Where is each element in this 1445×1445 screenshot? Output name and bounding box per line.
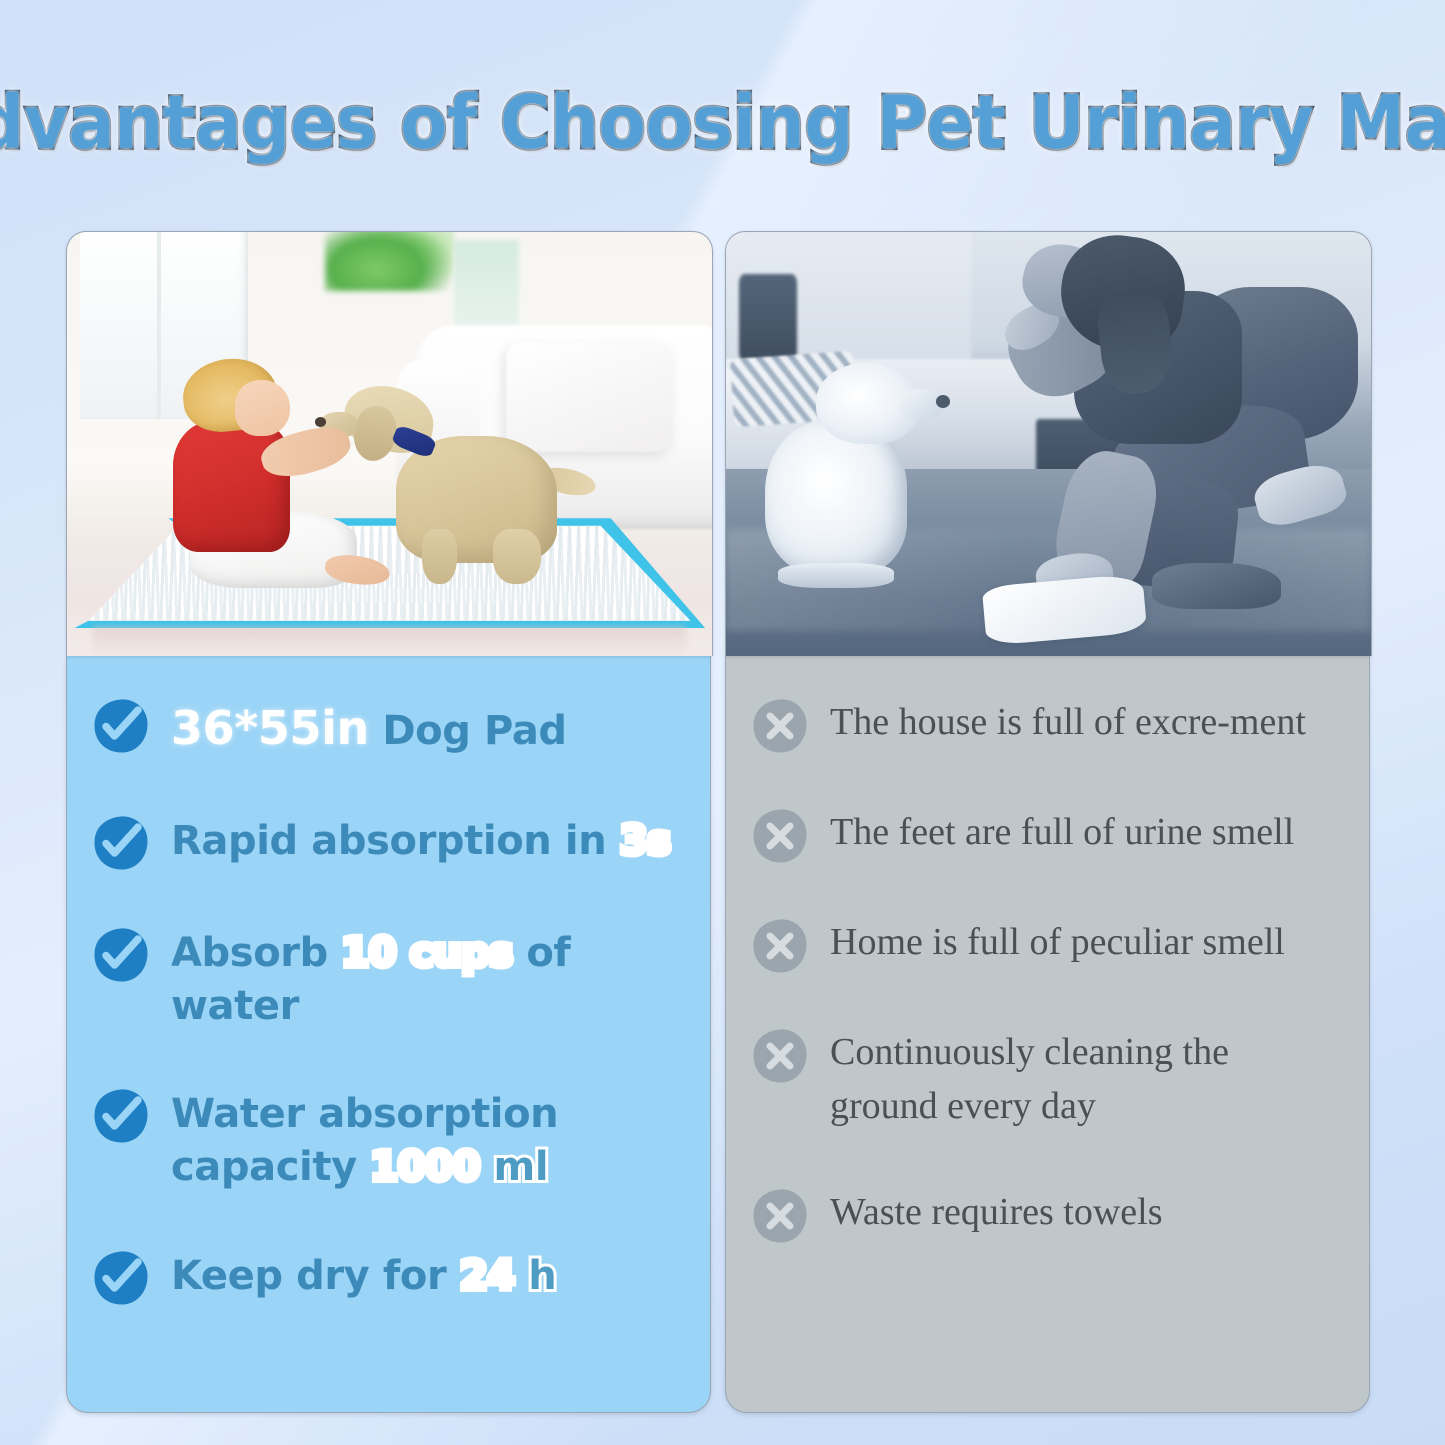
- page-title: Advantages of Choosing Pet Urinary Mats: [0, 80, 1445, 166]
- capacity-value: 1000: [370, 1144, 480, 1190]
- capacity-line-2: capacity 1000 ml: [171, 1141, 558, 1194]
- disadvantages-column: The house is full of excre-ment The feet…: [725, 231, 1370, 1413]
- cups-value: 10 cups: [341, 930, 512, 976]
- photo-boy-with-puppy-on-pad: [66, 231, 713, 656]
- capacity-unit: ml: [480, 1144, 548, 1190]
- pad-size-value: 36*55in: [171, 701, 369, 755]
- advantage-item-4: Water absorption capacity 1000 ml: [93, 1086, 684, 1194]
- advantage-item-1: 36*55in Dog Pad: [93, 696, 684, 759]
- advantage-text-5: Keep dry for 24 h: [171, 1248, 556, 1303]
- dry-duration-prefix: Keep dry for: [171, 1253, 460, 1299]
- disadvantage-text-1: The house is full of excre-ment: [830, 696, 1306, 750]
- check-circle-icon: [93, 1088, 149, 1144]
- disadvantage-text-5: Waste requires towels: [830, 1186, 1163, 1240]
- plant-shape: [325, 231, 454, 291]
- advantage-text-3: Absorb 10 cups of water: [171, 925, 684, 1033]
- cups-prefix: Absorb: [171, 930, 341, 976]
- boy-face: [235, 380, 290, 435]
- woman-front-shoe: [1152, 563, 1281, 610]
- photo-woman-cleaning-floor-with-dog: [725, 231, 1372, 656]
- x-circle-icon: [752, 808, 808, 864]
- infographic-root: Advantages of Choosing Pet Urinary Mats: [0, 0, 1445, 1445]
- disadvantage-item-1: The house is full of excre-ment: [752, 696, 1343, 754]
- puppy-hind-leg: [493, 529, 541, 584]
- boy-red-shirt: [173, 421, 289, 552]
- floor-reflection: [93, 626, 686, 656]
- disadvantage-item-4: Continuously cleaning the ground every d…: [752, 1026, 1343, 1134]
- capacity-line-1: Water absorption: [171, 1088, 558, 1141]
- advantage-item-2: Rapid absorption in 3s: [93, 813, 684, 871]
- x-circle-icon: [752, 918, 808, 974]
- puppy-front-leg: [422, 529, 457, 584]
- poodle-paws: [778, 563, 894, 588]
- check-circle-icon: [93, 698, 149, 754]
- absorption-speed-prefix: Rapid absorption in: [171, 818, 620, 864]
- disadvantage-text-2: The feet are full of urine smell: [830, 806, 1294, 860]
- disadvantage-item-5: Waste requires towels: [752, 1186, 1343, 1244]
- x-circle-icon: [752, 698, 808, 754]
- absorption-speed-value: 3s: [620, 818, 671, 864]
- advantage-text-2: Rapid absorption in 3s: [171, 813, 671, 868]
- advantage-item-3: Absorb 10 cups of water: [93, 925, 684, 1033]
- capacity-prefix: capacity: [171, 1144, 370, 1190]
- advantage-text-1: 36*55in Dog Pad: [171, 696, 567, 759]
- disadvantages-list-panel: The house is full of excre-ment The feet…: [725, 656, 1370, 1413]
- dry-duration-unit: h: [515, 1253, 557, 1299]
- comparison-columns: 36*55in Dog Pad Rapid absorption in 3s: [66, 231, 1384, 1413]
- check-circle-icon: [93, 927, 149, 983]
- dry-duration-value: 24: [460, 1253, 515, 1299]
- pad-size-label: Dog Pad: [369, 708, 567, 754]
- advantage-item-5: Keep dry for 24 h: [93, 1248, 684, 1306]
- x-circle-icon: [752, 1188, 808, 1244]
- x-circle-icon: [752, 1028, 808, 1084]
- advantage-text-4: Water absorption capacity 1000 ml: [171, 1086, 558, 1194]
- check-circle-icon: [93, 815, 149, 871]
- advantages-list-panel: 36*55in Dog Pad Rapid absorption in 3s: [66, 656, 711, 1413]
- poodle-nose: [936, 395, 950, 408]
- disadvantage-text-4-line-1: Continuously cleaning the: [830, 1026, 1229, 1080]
- disadvantage-item-2: The feet are full of urine smell: [752, 806, 1343, 864]
- advantages-column: 36*55in Dog Pad Rapid absorption in 3s: [66, 231, 711, 1413]
- page-title-container: Advantages of Choosing Pet Urinary Mats: [0, 68, 1445, 178]
- check-circle-icon: [93, 1250, 149, 1306]
- lamp-shape: [739, 274, 797, 367]
- cushion-shape: [506, 342, 674, 452]
- disadvantage-text-4: Continuously cleaning the ground every d…: [830, 1026, 1229, 1134]
- disadvantage-text-4-line-2: ground every day: [830, 1080, 1229, 1134]
- disadvantage-text-3: Home is full of peculiar smell: [830, 916, 1285, 970]
- disadvantage-item-3: Home is full of peculiar smell: [752, 916, 1343, 974]
